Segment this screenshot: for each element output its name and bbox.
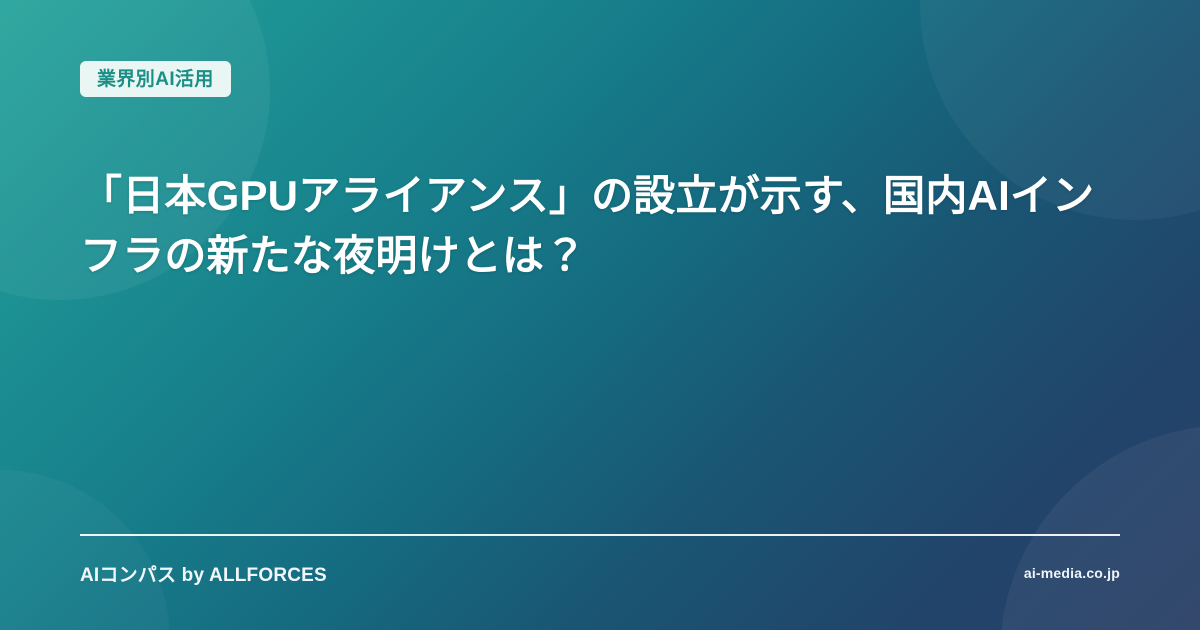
og-image-card: 業界別AI活用 「日本GPUアライアンス」の設立が示す、国内AIインフラの新たな… <box>0 0 1200 630</box>
brand-name: AIコンパス by ALLFORCES <box>80 560 327 587</box>
footer-divider <box>80 534 1120 536</box>
category-badge: 業界別AI活用 <box>80 61 231 97</box>
article-headline: 「日本GPUアライアンス」の設立が示す、国内AIインフラの新たな夜明けとは？ <box>80 166 1120 286</box>
site-domain: ai-media.co.jp <box>1024 565 1120 581</box>
footer: AIコンパス by ALLFORCES ai-media.co.jp <box>80 556 1120 590</box>
decorative-circle-bottom-right <box>1000 425 1200 630</box>
decorative-circle-bottom-left <box>0 470 170 630</box>
